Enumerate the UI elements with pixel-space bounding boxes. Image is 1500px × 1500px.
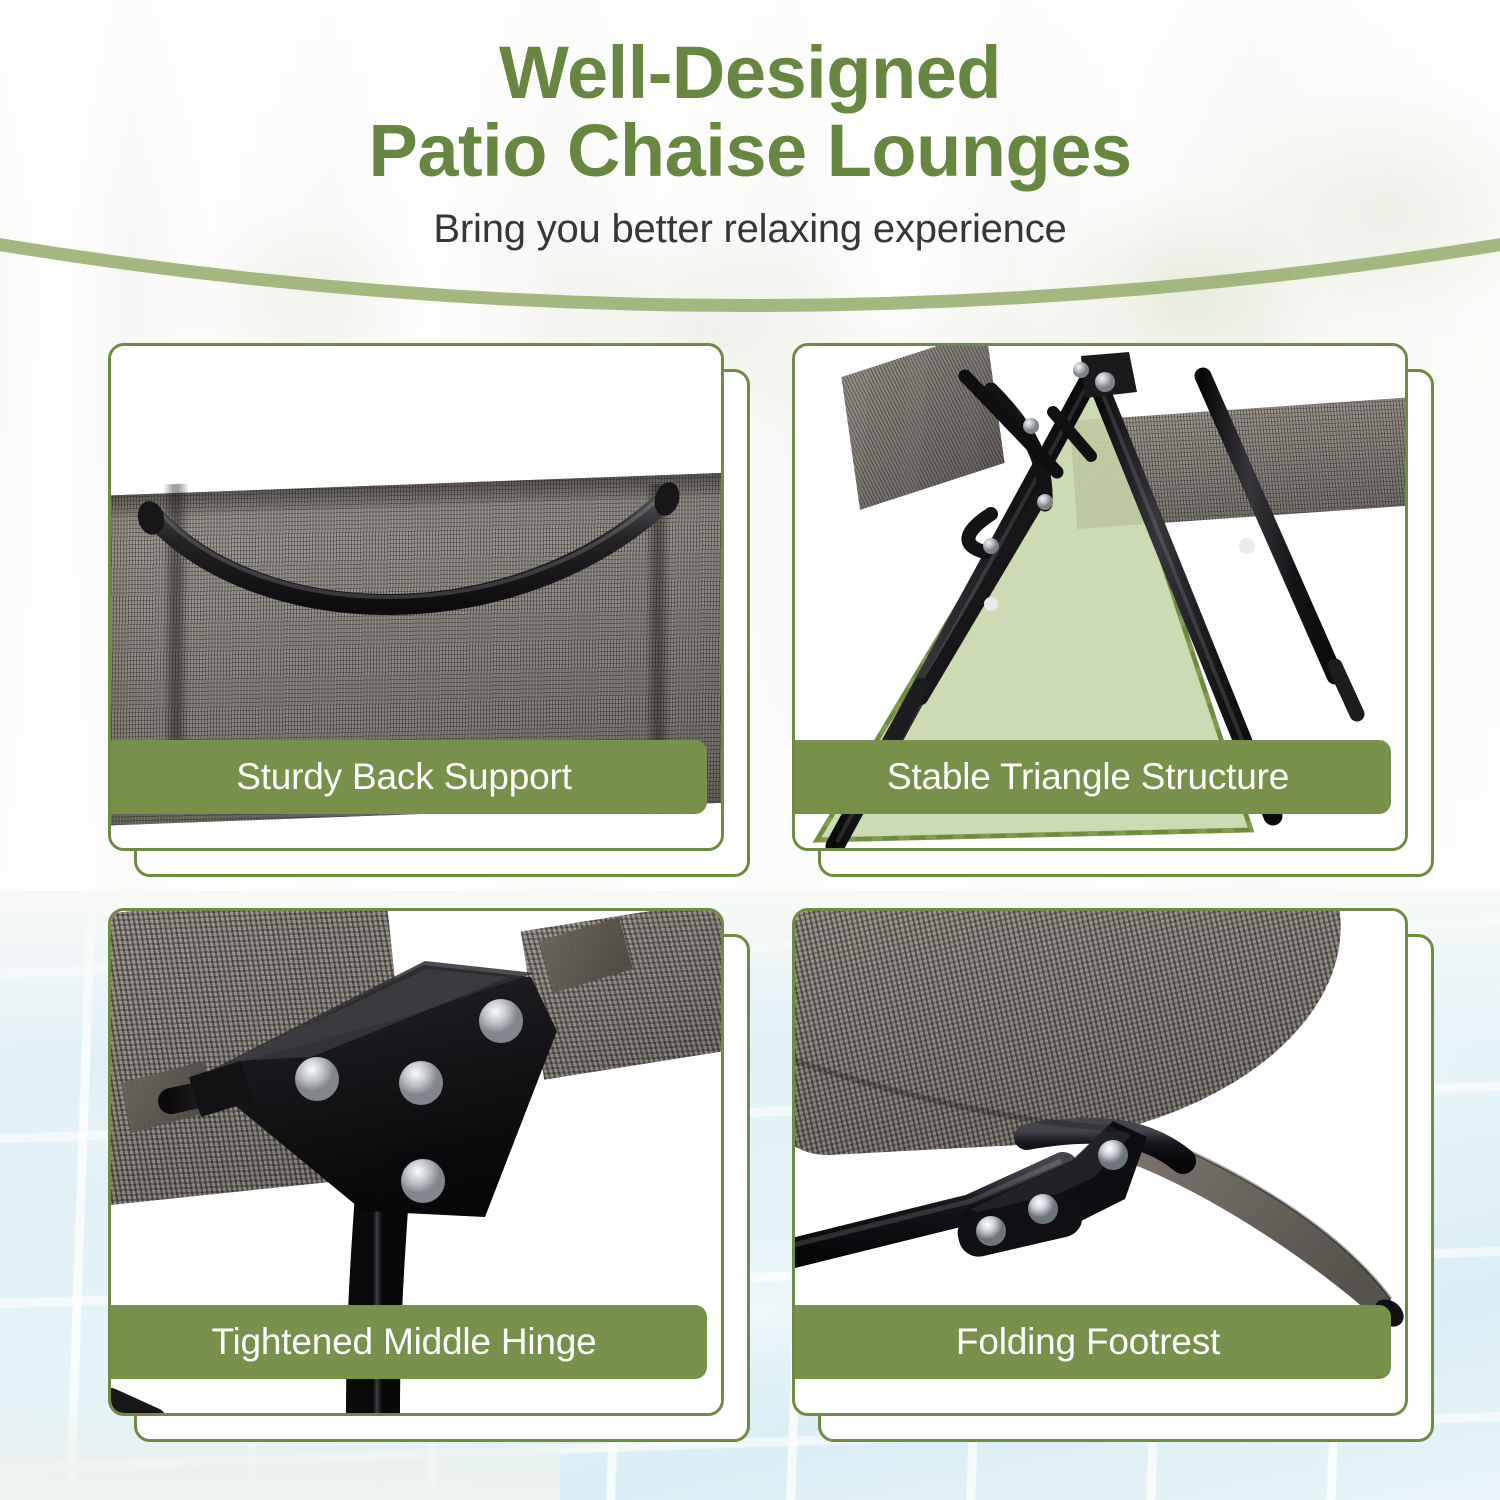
- rivet-2: [399, 1061, 443, 1105]
- caption-ribbon: Tightened Middle Hinge: [108, 1305, 707, 1379]
- card-body: Tightened Middle Hinge: [108, 908, 724, 1416]
- caption-ribbon: Stable Triangle Structure: [792, 740, 1391, 814]
- feature-card-stable-triangle-structure[interactable]: Stable Triangle Structure: [792, 343, 1408, 851]
- caption-label: Stable Triangle Structure: [887, 756, 1289, 798]
- card-body: Stable Triangle Structure: [792, 343, 1408, 851]
- caption-label: Sturdy Back Support: [236, 756, 572, 798]
- rivet-1: [295, 1057, 339, 1101]
- rivet-3: [479, 999, 523, 1043]
- caption-ribbon: Folding Footrest: [792, 1305, 1391, 1379]
- card-body: Sturdy Back Support: [108, 343, 724, 851]
- infographic-poster: Well-Designed Patio Chaise Lounges Bring…: [0, 0, 1500, 1500]
- caption-label: Folding Footrest: [956, 1321, 1220, 1363]
- rivet-3: [1098, 1140, 1128, 1170]
- feature-card-sturdy-back-support[interactable]: Sturdy Back Support: [108, 343, 724, 851]
- feature-card-tightened-middle-hinge[interactable]: Tightened Middle Hinge: [108, 908, 724, 1416]
- rivet-2: [1028, 1194, 1058, 1224]
- feature-grid: Sturdy Back Support: [0, 0, 1500, 1500]
- card-body: Folding Footrest: [792, 908, 1408, 1416]
- caption-label: Tightened Middle Hinge: [211, 1321, 596, 1363]
- rivet-4: [401, 1159, 445, 1203]
- curved-support-bar: [111, 466, 721, 706]
- feature-card-folding-footrest[interactable]: Folding Footrest: [792, 908, 1408, 1416]
- caption-ribbon: Sturdy Back Support: [108, 740, 707, 814]
- rivet-1: [976, 1216, 1006, 1246]
